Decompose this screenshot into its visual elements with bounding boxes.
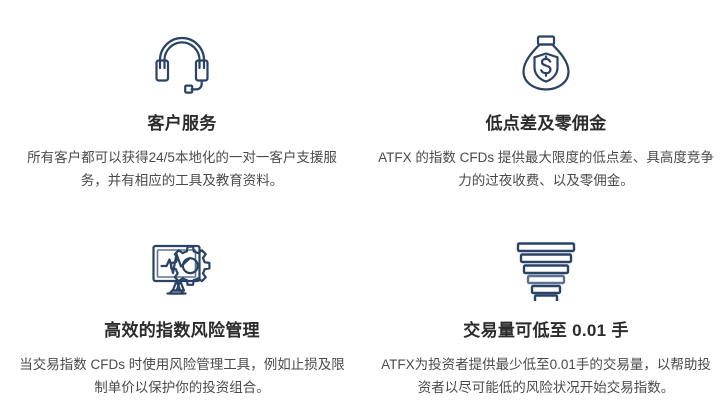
feature-title: 客户服务 bbox=[147, 113, 216, 135]
feature-title: 低点差及零佣金 bbox=[485, 113, 606, 135]
features-grid: 客户服务 所有客户都可以获得24/5本地化的一对一客户支援服务，并有相应的工具及… bbox=[0, 0, 728, 413]
feature-card-risk-management: 高效的指数风险管理 当交易指数 CFDs 时使用风险管理工具，例如止损及限制单价… bbox=[0, 207, 364, 413]
feature-description: 所有客户都可以获得24/5本地化的一对一客户支援服务，并有相应的工具及教育资料。 bbox=[14, 146, 350, 192]
feature-title: 高效的指数风险管理 bbox=[104, 320, 260, 342]
feature-description: ATFX为投资者提供最少低至0.01手的交易量，以帮助投资者以尽可能低的风险状况… bbox=[378, 353, 714, 399]
feature-description: 当交易指数 CFDs 时使用风险管理工具，例如止损及限制单价以保护你的投资组合。 bbox=[14, 353, 350, 399]
feature-description: ATFX 的指数 CFDs 提供最大限度的低点差、具高度竞争力的过夜收费、以及零… bbox=[378, 146, 714, 192]
feature-card-customer-service: 客户服务 所有客户都可以获得24/5本地化的一对一客户支援服务，并有相应的工具及… bbox=[0, 0, 364, 207]
feature-card-low-spread: 低点差及零佣金 ATFX 的指数 CFDs 提供最大限度的低点差、具高度竞争力的… bbox=[364, 0, 728, 207]
feature-title: 交易量可低至 0.01 手 bbox=[463, 320, 628, 342]
money-bag-shield-dollar-icon bbox=[378, 26, 714, 100]
headset-icon bbox=[14, 26, 350, 100]
funnel-bars-icon bbox=[378, 233, 714, 307]
monitor-chart-gear-icon bbox=[14, 233, 350, 307]
feature-card-lot-size: 交易量可低至 0.01 手 ATFX为投资者提供最少低至0.01手的交易量，以帮… bbox=[364, 207, 728, 413]
